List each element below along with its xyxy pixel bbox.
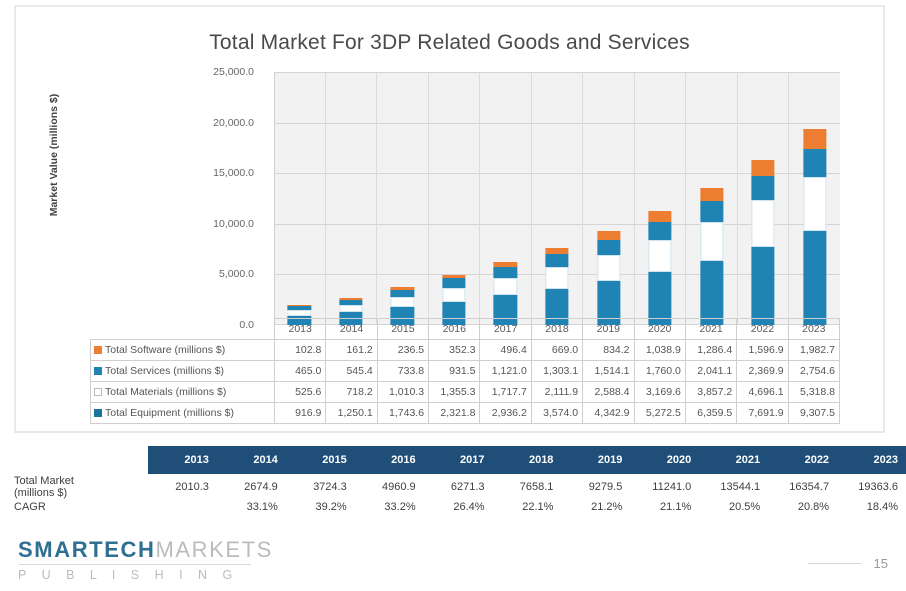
summary-corner-cell: [0, 446, 148, 474]
bar-segment: [803, 129, 826, 149]
summary-year-header: 2013: [148, 446, 217, 474]
bar-segment: [648, 211, 671, 222]
summary-cell: 33.1%: [217, 500, 286, 514]
bar-cell: [738, 72, 790, 325]
legend-row-label: Total Equipment (millions $): [91, 403, 275, 424]
table-row: Total Services (millions $)465.0545.4733…: [91, 361, 840, 382]
legend-swatch-icon: [94, 409, 102, 417]
summary-row: Total Market(millions $)2010.32674.93724…: [0, 474, 906, 500]
summary-cell: 21.2%: [561, 500, 630, 514]
summary-year-header: 2022: [768, 446, 837, 474]
summary-year-header: 2021: [699, 446, 768, 474]
table-cell: 733.8: [377, 361, 428, 382]
bar-segment: [545, 254, 568, 267]
summary-row-label: Total Market(millions $): [0, 474, 148, 500]
table-cell: 5,318.8: [788, 382, 839, 403]
bar-segment: [700, 201, 723, 222]
table-cell: 525.6: [275, 382, 326, 403]
table-cell: 1,760.0: [634, 361, 685, 382]
summary-cell: 20.5%: [699, 500, 768, 514]
summary-cell: 16354.7: [768, 474, 837, 500]
bar-segment: [339, 305, 362, 312]
legend-row-label: Total Materials (millions $): [91, 382, 275, 403]
bar-segment: [597, 231, 620, 239]
summary-cell: 2010.3: [148, 474, 217, 500]
table-year-header: 2014: [326, 319, 377, 340]
summary-table-head: 2013201420152016201720182019202020212022…: [0, 446, 906, 474]
summary-cell: 18.4%: [837, 500, 906, 514]
summary-year-header: 2015: [286, 446, 355, 474]
summary-cell: [148, 500, 217, 514]
summary-cell: 13544.1: [699, 474, 768, 500]
summary-year-header: 2023: [837, 446, 906, 474]
summary-table: 2013201420152016201720182019202020212022…: [0, 446, 906, 514]
summary-table-body: Total Market(millions $)2010.32674.93724…: [0, 474, 906, 514]
bar-segment: [597, 255, 620, 281]
legend-label-text: Total Materials (millions $): [105, 386, 226, 398]
table-cell: 834.2: [583, 340, 634, 361]
y-tick-label: 25,000.0: [174, 66, 254, 78]
logo-smartech: SMARTECH: [18, 537, 155, 562]
bar-cell: [532, 72, 584, 325]
chart-card: Total Market For 3DP Related Goods and S…: [14, 5, 885, 433]
table-cell: 2,111.9: [531, 382, 582, 403]
bar-group: [274, 72, 840, 325]
table-row: Total Software (millions $)102.8161.2236…: [91, 340, 840, 361]
bar-segment: [545, 267, 568, 288]
summary-year-header: 2017: [424, 446, 493, 474]
summary-cell: 26.4%: [424, 500, 493, 514]
table-cell: 1,514.1: [583, 361, 634, 382]
bar-segment: [803, 149, 826, 177]
bar-segment: [442, 278, 465, 287]
summary-cell: 2674.9: [217, 474, 286, 500]
bar-segment: [803, 177, 826, 231]
bar-segment: [391, 290, 414, 297]
table-cell: 1,010.3: [377, 382, 428, 403]
bar-segment: [442, 288, 465, 302]
summary-year-header: 2019: [561, 446, 630, 474]
table-cell: 1,355.3: [429, 382, 480, 403]
bar-segment: [803, 231, 826, 325]
bar-cell: [789, 72, 840, 325]
page-number-rule: [808, 563, 862, 564]
table-cell: 669.0: [531, 340, 582, 361]
slide: Total Market For 3DP Related Goods and S…: [0, 0, 906, 591]
stacked-bar[interactable]: [700, 188, 723, 325]
summary-year-header: 2020: [630, 446, 699, 474]
table-cell: 465.0: [275, 361, 326, 382]
logo-markets: MARKETS: [155, 537, 273, 562]
chart-data-table-body: 2013201420152016201720182019202020212022…: [91, 319, 840, 424]
y-axis-ticks: 0.05,000.010,000.015,000.020,000.025,000…: [176, 72, 254, 325]
table-cell: 352.3: [429, 340, 480, 361]
summary-cell: 6271.3: [424, 474, 493, 500]
bar-segment: [597, 240, 620, 255]
table-year-header: 2023: [788, 319, 839, 340]
table-year-header: 2019: [583, 319, 634, 340]
bar-segment: [648, 240, 671, 272]
summary-row-label-line2: (millions $): [14, 487, 140, 499]
table-cell: 1,303.1: [531, 361, 582, 382]
table-corner-cell: [91, 319, 275, 340]
table-cell: 3,574.0: [531, 403, 582, 424]
table-cell: 1,286.4: [685, 340, 736, 361]
bar-segment: [648, 272, 671, 325]
table-cell: 3,169.6: [634, 382, 685, 403]
summary-row-label: CAGR: [0, 500, 148, 514]
table-cell: 545.4: [326, 361, 377, 382]
y-tick-label: 20,000.0: [174, 117, 254, 129]
bar-cell: [480, 72, 532, 325]
summary-year-header: 2016: [355, 446, 424, 474]
y-axis-title: Market Value (millions $): [48, 55, 60, 255]
summary-cell: 11241.0: [630, 474, 699, 500]
bar-segment: [752, 247, 775, 325]
bar-segment: [700, 261, 723, 325]
table-year-header: 2021: [685, 319, 736, 340]
bar-cell: [635, 72, 687, 325]
chart-data-table: 2013201420152016201720182019202020212022…: [90, 318, 840, 424]
table-cell: 2,369.9: [737, 361, 788, 382]
table-cell: 3,857.2: [685, 382, 736, 403]
bar-segment: [494, 278, 517, 295]
summary-cell: 7658.1: [493, 474, 562, 500]
summary-row-label-line1: Total Market: [14, 475, 140, 487]
table-year-header: 2016: [429, 319, 480, 340]
y-tick-label: 15,000.0: [174, 167, 254, 179]
summary-cell: 9279.5: [561, 474, 630, 500]
table-year-header: 2017: [480, 319, 531, 340]
bar-cell: [429, 72, 481, 325]
table-cell: 916.9: [275, 403, 326, 424]
table-cell: 161.2: [326, 340, 377, 361]
table-cell: 9,307.5: [788, 403, 839, 424]
table-cell: 102.8: [275, 340, 326, 361]
summary-cell: 19363.6: [837, 474, 906, 500]
summary-table-wrap: 2013201420152016201720182019202020212022…: [0, 446, 906, 514]
legend-label-text: Total Services (millions $): [105, 365, 224, 377]
table-cell: 496.4: [480, 340, 531, 361]
table-year-header: 2018: [531, 319, 582, 340]
table-cell: 7,691.9: [737, 403, 788, 424]
table-cell: 1,121.0: [480, 361, 531, 382]
summary-year-header: 2018: [493, 446, 562, 474]
summary-row: CAGR33.1%39.2%33.2%26.4%22.1%21.2%21.1%2…: [0, 500, 906, 514]
bar-segment: [700, 222, 723, 261]
legend-label-text: Total Software (millions $): [105, 344, 225, 356]
table-year-header: 2013: [275, 319, 326, 340]
plot-area: [274, 72, 840, 325]
logo-rule: [19, 564, 251, 565]
stacked-bar[interactable]: [648, 211, 671, 325]
summary-year-header: 2014: [217, 446, 286, 474]
legend-row-label: Total Services (millions $): [91, 361, 275, 382]
page-number: 15: [874, 556, 888, 571]
legend-label-text: Total Equipment (millions $): [105, 407, 234, 419]
bar-cell: [583, 72, 635, 325]
summary-cell: 39.2%: [286, 500, 355, 514]
table-cell: 236.5: [377, 340, 428, 361]
table-cell: 4,342.9: [583, 403, 634, 424]
legend-swatch-icon: [94, 388, 102, 396]
summary-cell: 3724.3: [286, 474, 355, 500]
summary-cell: 33.2%: [355, 500, 424, 514]
bar-cell: [377, 72, 429, 325]
table-cell: 1,982.7: [788, 340, 839, 361]
stacked-bar[interactable]: [597, 231, 620, 325]
table-cell: 1,717.7: [480, 382, 531, 403]
stacked-bar[interactable]: [494, 262, 517, 325]
bar-segment: [752, 200, 775, 248]
bar-segment: [545, 248, 568, 255]
table-cell: 2,936.2: [480, 403, 531, 424]
summary-header-row: 2013201420152016201720182019202020212022…: [0, 446, 906, 474]
stacked-bar[interactable]: [545, 248, 568, 325]
table-row: Total Materials (millions $)525.6718.21,…: [91, 382, 840, 403]
bar-cell: [686, 72, 738, 325]
table-row: Total Equipment (millions $)916.91,250.1…: [91, 403, 840, 424]
table-cell: 1,743.6: [377, 403, 428, 424]
bar-segment: [494, 267, 517, 278]
summary-cell: 20.8%: [768, 500, 837, 514]
summary-cell: 4960.9: [355, 474, 424, 500]
bar-cell: [326, 72, 378, 325]
smartech-logo: SMARTECHMARKETS P U B L I S H I N G: [18, 538, 273, 582]
table-cell: 2,754.6: [788, 361, 839, 382]
legend-swatch-icon: [94, 367, 102, 375]
table-cell: 931.5: [429, 361, 480, 382]
table-cell: 4,696.1: [737, 382, 788, 403]
table-cell: 2,321.8: [429, 403, 480, 424]
bar-segment: [700, 188, 723, 201]
stacked-bar[interactable]: [752, 160, 775, 325]
table-cell: 2,041.1: [685, 361, 736, 382]
bar-segment: [752, 160, 775, 176]
bar-segment: [391, 297, 414, 307]
bar-segment: [752, 176, 775, 200]
bar-cell: [274, 72, 326, 325]
legend-row-label: Total Software (millions $): [91, 340, 275, 361]
chart-title: Total Market For 3DP Related Goods and S…: [16, 31, 883, 55]
table-row: 2013201420152016201720182019202020212022…: [91, 319, 840, 340]
logo-publishing: P U B L I S H I N G: [18, 568, 273, 582]
legend-swatch-icon: [94, 346, 102, 354]
table-cell: 1,250.1: [326, 403, 377, 424]
summary-cell: 22.1%: [493, 500, 562, 514]
summary-cell: 21.1%: [630, 500, 699, 514]
bar-segment: [648, 222, 671, 240]
table-cell: 1,038.9: [634, 340, 685, 361]
y-tick-label: 5,000.0: [174, 268, 254, 280]
table-cell: 2,588.4: [583, 382, 634, 403]
y-tick-label: 10,000.0: [174, 218, 254, 230]
table-cell: 1,596.9: [737, 340, 788, 361]
table-cell: 718.2: [326, 382, 377, 403]
table-cell: 5,272.5: [634, 403, 685, 424]
stacked-bar[interactable]: [803, 129, 826, 325]
table-year-header: 2015: [377, 319, 428, 340]
table-year-header: 2020: [634, 319, 685, 340]
table-cell: 6,359.5: [685, 403, 736, 424]
table-year-header: 2022: [737, 319, 788, 340]
